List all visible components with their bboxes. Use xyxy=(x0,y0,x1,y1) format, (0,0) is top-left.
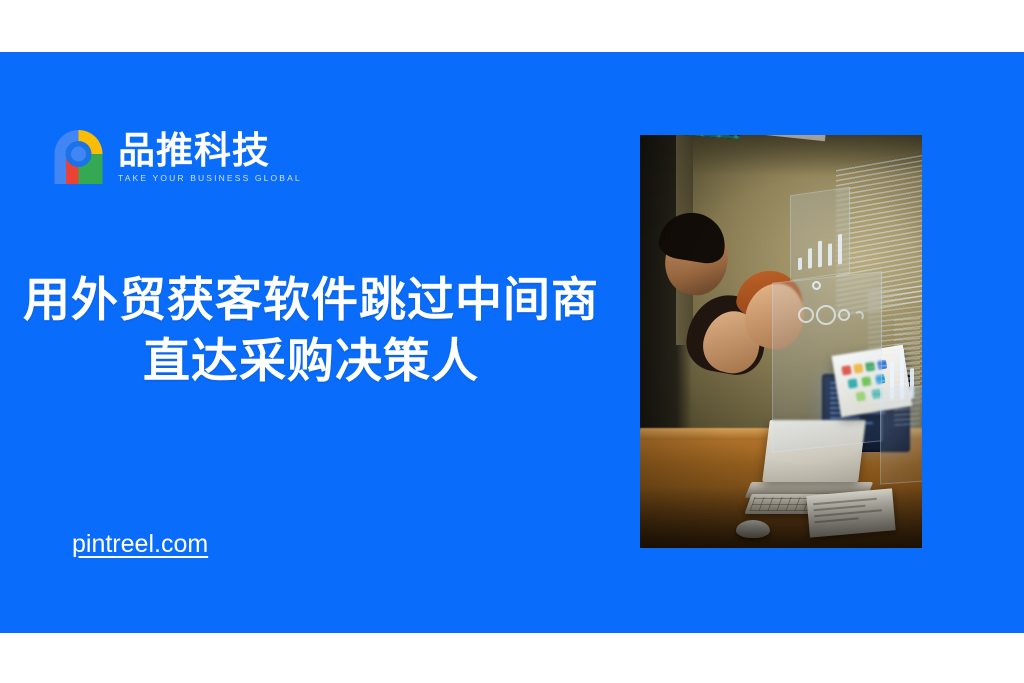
slide-canvas: 品推科技 TAKE YOUR BUSINESS GLOBAL 用外贸获客软件跳过… xyxy=(0,0,1024,683)
pintreel-pa-monogram-icon xyxy=(50,126,107,188)
headline-line-2: 直达采购决策人 xyxy=(0,331,622,392)
company-name: 品推科技 xyxy=(118,132,302,171)
page-title: 用外贸获客软件跳过中间商 直达采购决策人 xyxy=(0,270,622,392)
hero-photo xyxy=(640,135,922,548)
photo-vignette xyxy=(640,135,922,548)
blue-content-band: 品推科技 TAKE YOUR BUSINESS GLOBAL 用外贸获客软件跳过… xyxy=(0,52,1024,633)
headline-line-1: 用外贸获客软件跳过中间商 xyxy=(0,270,622,331)
website-link[interactable]: pintreel.com xyxy=(72,530,208,559)
photo-scene xyxy=(640,135,922,548)
logo-wordmark: 品推科技 TAKE YOUR BUSINESS GLOBAL xyxy=(118,132,302,182)
company-tagline: TAKE YOUR BUSINESS GLOBAL xyxy=(118,174,302,183)
brand-logo[interactable]: 品推科技 TAKE YOUR BUSINESS GLOBAL xyxy=(50,126,302,188)
